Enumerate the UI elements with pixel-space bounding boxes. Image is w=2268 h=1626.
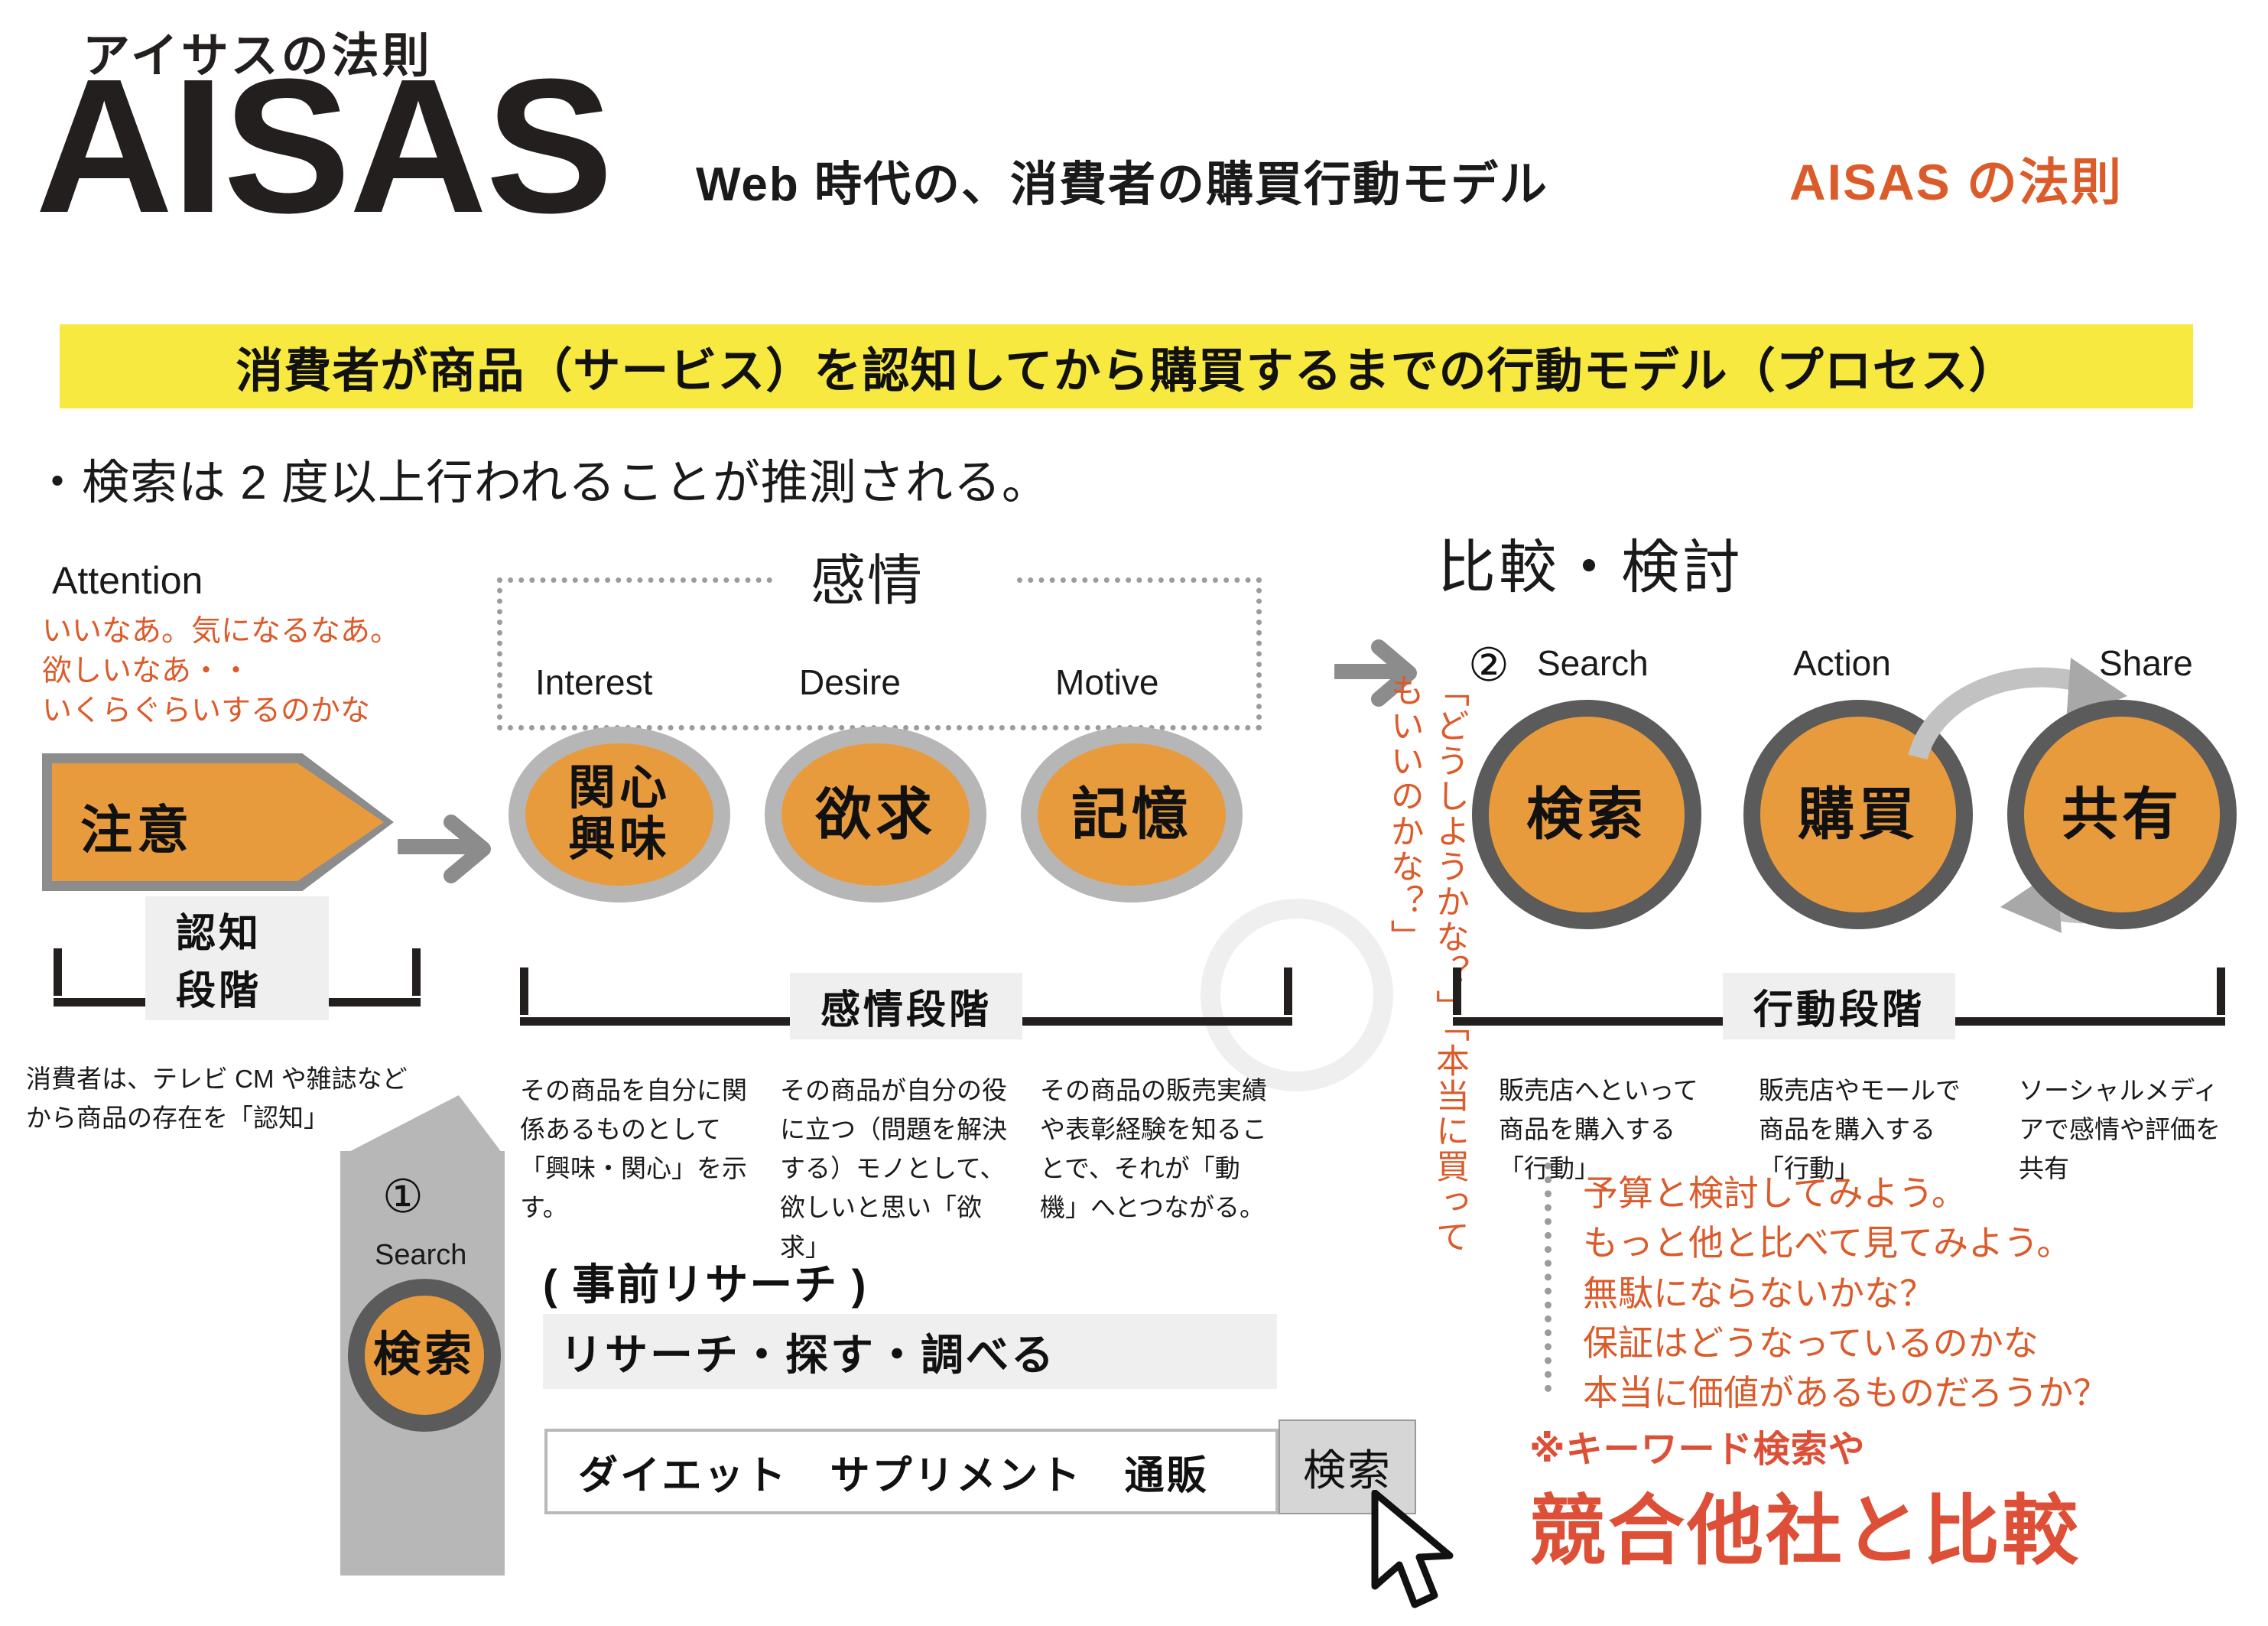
emotion-dotted-top-right bbox=[1017, 577, 1262, 583]
list-item: 無駄にならないかな？ bbox=[1583, 1269, 2108, 1319]
highlight-banner: 消費者が商品（サービス）を認知してから購買するまでの行動モデル（プロセス） bbox=[60, 324, 2193, 408]
attention-quote-block: いいなあ。気になるなあ。 欲しいなあ・・ いくらぐらいするのかな bbox=[42, 612, 400, 731]
stage-label-emotion: 感情段階 bbox=[820, 988, 992, 1033]
node-interest: 関心 興味 bbox=[509, 727, 730, 902]
banner-label: 消費者が商品（サービス）を認知してから購買するまでの行動モデル（プロセス） bbox=[236, 332, 2016, 401]
node-desire: 欲求 bbox=[765, 727, 986, 902]
interest-eng-label: Interest bbox=[535, 662, 652, 703]
share-caption: 共有 bbox=[2007, 700, 2237, 929]
search2-caption: 検索 bbox=[1472, 700, 1701, 929]
search-button-label: 検索 bbox=[1303, 1436, 1392, 1498]
description-motive: その商品の販売実績や表彰経験を知ることで、それが「動機」へとつながる。 bbox=[1040, 1071, 1269, 1228]
stage-bracket-emotion: 感情段階 bbox=[520, 967, 1292, 1026]
bracket-right-wall bbox=[2217, 967, 2225, 1015]
keyword-note-small: ※キーワード検索や bbox=[1529, 1419, 1866, 1472]
action-eng-label: Action bbox=[1793, 642, 1891, 684]
motive-caption: 記憶 bbox=[1021, 727, 1243, 902]
list-item: 保証はどうなっているのかな bbox=[1583, 1319, 2108, 1368]
bracket-right-wall bbox=[412, 948, 421, 996]
node-motive: 記憶 bbox=[1021, 727, 1243, 902]
stage-chip-action: 行動段階 bbox=[1723, 973, 1955, 1039]
description-awareness: 消費者は、テレビ CM や雑誌などから商品の存在を「認知」 bbox=[26, 1059, 424, 1137]
attention-quote-line: いいなあ。気になるなあ。 bbox=[42, 612, 400, 652]
description-desire: その商品が自分の役に立つ（問題を解決する）モノとして、欲しいと思い「欲求」 bbox=[780, 1071, 1009, 1267]
keyword-note-big: 競合他社と比較 bbox=[1529, 1468, 2081, 1579]
description-interest: その商品を自分に関係あるものとして「興味・関心」を示す。 bbox=[520, 1071, 749, 1228]
search1-eng-label: Search bbox=[375, 1239, 466, 1272]
attention-shape-label: 注意 bbox=[80, 788, 193, 863]
share-eng-label: Share bbox=[2099, 642, 2193, 684]
list-item: もっと他と比べて見てみよう。 bbox=[1583, 1218, 2108, 1268]
bracket-left-wall bbox=[54, 948, 62, 996]
stage-bracket-action: 行動段階 bbox=[1453, 967, 2225, 1026]
step-number-2: ② bbox=[1468, 639, 1509, 692]
bracket-left-wall bbox=[520, 967, 528, 1015]
right-list-dotted-rule bbox=[1545, 1163, 1552, 1392]
list-item: 本当に価値があるものだろうか？ bbox=[1583, 1368, 2108, 1418]
search-input-value: ダイエット サプリメント 通販 bbox=[578, 1443, 1208, 1501]
interest-caption-line1: 関心 bbox=[568, 763, 671, 815]
search2-eng-label: Search bbox=[1537, 642, 1649, 684]
mouse-cursor-icon bbox=[1369, 1490, 1461, 1612]
brandmark-text: AISAS の法則 bbox=[1789, 141, 2123, 215]
vertical-question-text: 「どうしようかな？」「本当に買ってもいいのかな？」 bbox=[1373, 673, 1472, 1254]
consideration-list: 予算と検討してみよう。 もっと他と比べて見てみよう。 無駄にならないかな？ 保証… bbox=[1583, 1169, 2108, 1419]
stage-label-action: 行動段階 bbox=[1753, 988, 1925, 1033]
list-item: 予算と検討してみよう。 bbox=[1583, 1169, 2108, 1218]
page-title: AISAS bbox=[35, 55, 612, 237]
stage-chip-emotion: 感情段階 bbox=[790, 973, 1022, 1039]
bracket-right-wall bbox=[1284, 967, 1292, 1015]
node-search-1: 検索 bbox=[348, 1279, 501, 1432]
interest-caption: 関心 興味 bbox=[509, 727, 730, 902]
motive-eng-label: Motive bbox=[1055, 662, 1158, 703]
emotion-dotted-box bbox=[497, 577, 1262, 730]
attention-quote-line: 欲しいなあ・・ bbox=[42, 652, 400, 691]
stage-chip-awareness: 認知段階 bbox=[145, 896, 329, 1020]
note-text: ・検索は 2 度以上行われることが推測される。 bbox=[34, 444, 1050, 512]
research-bar: リサーチ・探す・調べる bbox=[543, 1314, 1277, 1389]
bracket-left-wall bbox=[1453, 967, 1461, 1015]
stage-bracket-awareness: 認知段階 bbox=[54, 948, 421, 1006]
arrow-right-icon bbox=[398, 807, 505, 891]
desire-caption: 欲求 bbox=[765, 727, 986, 902]
desire-eng-label: Desire bbox=[799, 662, 901, 703]
search-input[interactable]: ダイエット サプリメント 通販 bbox=[544, 1429, 1279, 1514]
pre-research-label: ( 事前リサーチ ) bbox=[543, 1250, 867, 1312]
step-number-1: ① bbox=[382, 1170, 424, 1224]
stage-label-awareness: 認知段階 bbox=[176, 912, 262, 1013]
research-bar-label: リサーチ・探す・調べる bbox=[560, 1321, 1056, 1383]
subtitle-text: Web 時代の、消費者の購買行動モデル bbox=[696, 145, 1548, 214]
node-share: 共有 bbox=[2007, 700, 2237, 929]
node-search-2: 検索 bbox=[1472, 700, 1701, 929]
interest-caption-line2: 興味 bbox=[568, 815, 671, 866]
attention-quote-line: いくらぐらいするのかな bbox=[42, 691, 400, 731]
emotion-dotted-top-left bbox=[497, 577, 772, 583]
search1-caption: 検索 bbox=[348, 1279, 501, 1432]
attention-eng-label: Attention bbox=[52, 558, 203, 603]
compare-section-heading: 比較・検討 bbox=[1438, 520, 1743, 604]
